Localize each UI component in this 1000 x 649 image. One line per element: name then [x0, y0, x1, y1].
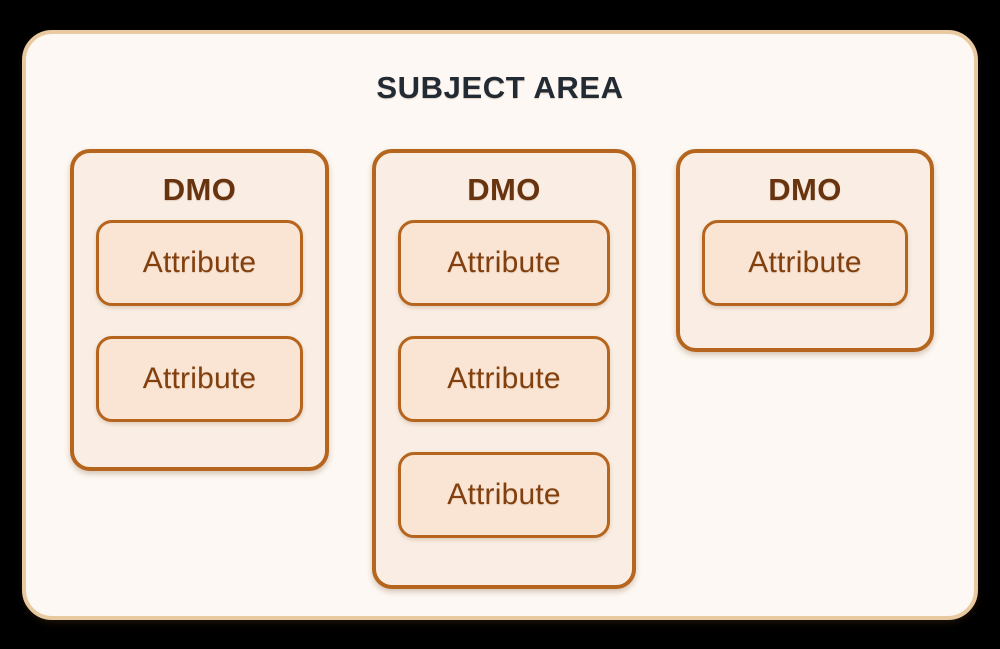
dmo-group-2[interactable]: DMO Attribute Attribute Attribute — [372, 149, 636, 589]
dmo-group-2-title: DMO — [376, 172, 632, 208]
attribute-box[interactable]: Attribute — [398, 452, 610, 538]
attribute-label: Attribute — [143, 362, 257, 396]
attribute-label: Attribute — [748, 246, 862, 280]
attribute-box[interactable]: Attribute — [398, 336, 610, 422]
attribute-label: Attribute — [447, 478, 561, 512]
dmo-group-3-title: DMO — [680, 172, 930, 208]
attribute-label: Attribute — [447, 246, 561, 280]
attribute-box[interactable]: Attribute — [702, 220, 908, 306]
dmo-group-3-attribute-list: Attribute — [702, 220, 908, 306]
attribute-label: Attribute — [143, 246, 257, 280]
diagram-canvas: SUBJECT AREA DMO Attribute Attribute DMO… — [0, 0, 1000, 649]
dmo-group-1[interactable]: DMO Attribute Attribute — [70, 149, 329, 471]
dmo-group-1-title: DMO — [74, 172, 325, 208]
dmo-group-2-attribute-list: Attribute Attribute Attribute — [398, 220, 610, 538]
dmo-group-3[interactable]: DMO Attribute — [676, 149, 934, 352]
attribute-box[interactable]: Attribute — [96, 220, 303, 306]
dmo-group-1-attribute-list: Attribute Attribute — [96, 220, 303, 422]
attribute-label: Attribute — [447, 362, 561, 396]
attribute-box[interactable]: Attribute — [96, 336, 303, 422]
attribute-box[interactable]: Attribute — [398, 220, 610, 306]
subject-area-title: SUBJECT AREA — [26, 70, 974, 106]
subject-area-container: SUBJECT AREA DMO Attribute Attribute DMO… — [22, 30, 978, 620]
